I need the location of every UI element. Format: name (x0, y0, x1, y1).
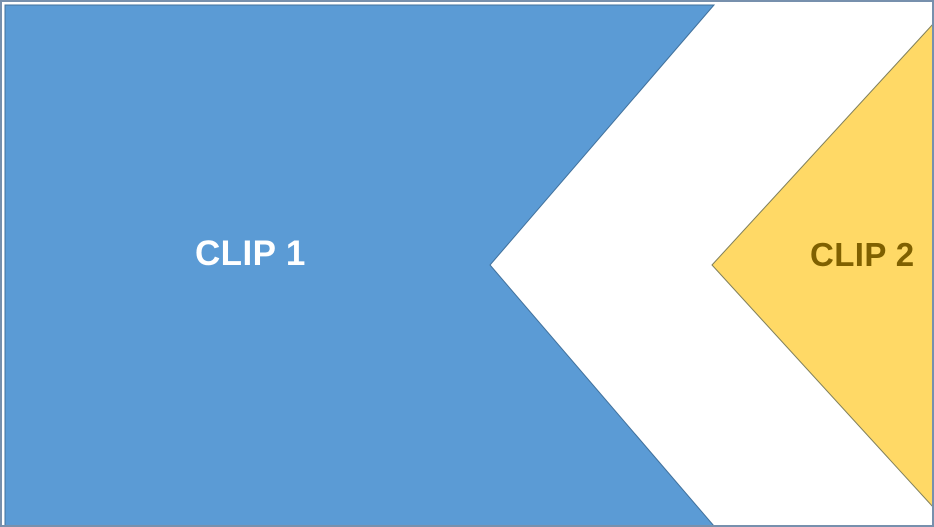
shape-stage: CLIP 1 CLIP 2 (2, 2, 932, 525)
diagram-canvas: CLIP 1 CLIP 2 (0, 0, 934, 527)
clip-2-label: CLIP 2 (810, 236, 915, 274)
chevron-shapes-svg (2, 2, 934, 527)
clip-1-chevron[interactable] (5, 5, 714, 526)
clip-1-label: CLIP 1 (195, 234, 306, 274)
